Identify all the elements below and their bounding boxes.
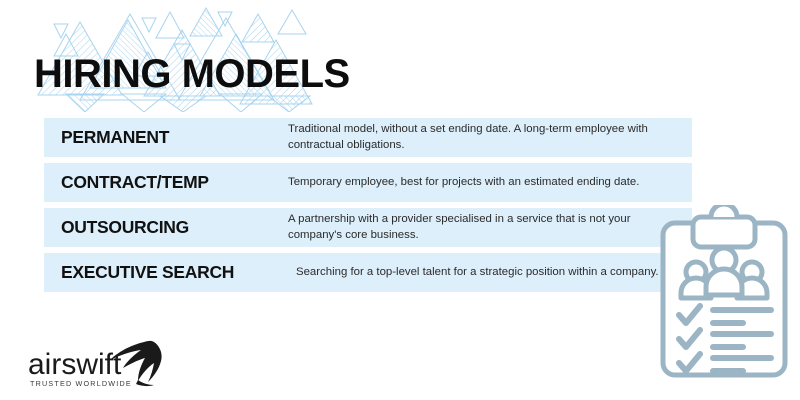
- model-description: Traditional model, without a set ending …: [288, 122, 692, 153]
- model-name: EXECUTIVE SEARCH: [44, 262, 296, 283]
- list-item[interactable]: CONTRACT/TEMP Temporary employee, best f…: [44, 163, 692, 202]
- model-description: A partnership with a provider specialise…: [288, 212, 692, 243]
- model-description: Temporary employee, best for projects wi…: [288, 175, 692, 191]
- list-item[interactable]: PERMANENT Traditional model, without a s…: [44, 118, 692, 157]
- model-name: OUTSOURCING: [44, 217, 288, 238]
- model-description: Searching for a top-level talent for a s…: [296, 265, 692, 281]
- model-name: PERMANENT: [44, 127, 288, 148]
- hiring-models-list: PERMANENT Traditional model, without a s…: [44, 118, 692, 298]
- airswift-logo[interactable]: airswift TRUSTED WORLDWIDE: [26, 336, 178, 394]
- list-item[interactable]: OUTSOURCING A partnership with a provide…: [44, 208, 692, 247]
- logo-wordmark-text: airswift: [28, 348, 122, 381]
- logo-tagline-text: TRUSTED WORLDWIDE: [30, 379, 132, 388]
- page-title: HIRING MODELS: [34, 52, 350, 96]
- model-name: CONTRACT/TEMP: [44, 172, 288, 193]
- slide-canvas: HIRING MODELS PERMANENT Traditional mode…: [0, 0, 800, 400]
- list-item[interactable]: EXECUTIVE SEARCH Searching for a top-lev…: [44, 253, 692, 292]
